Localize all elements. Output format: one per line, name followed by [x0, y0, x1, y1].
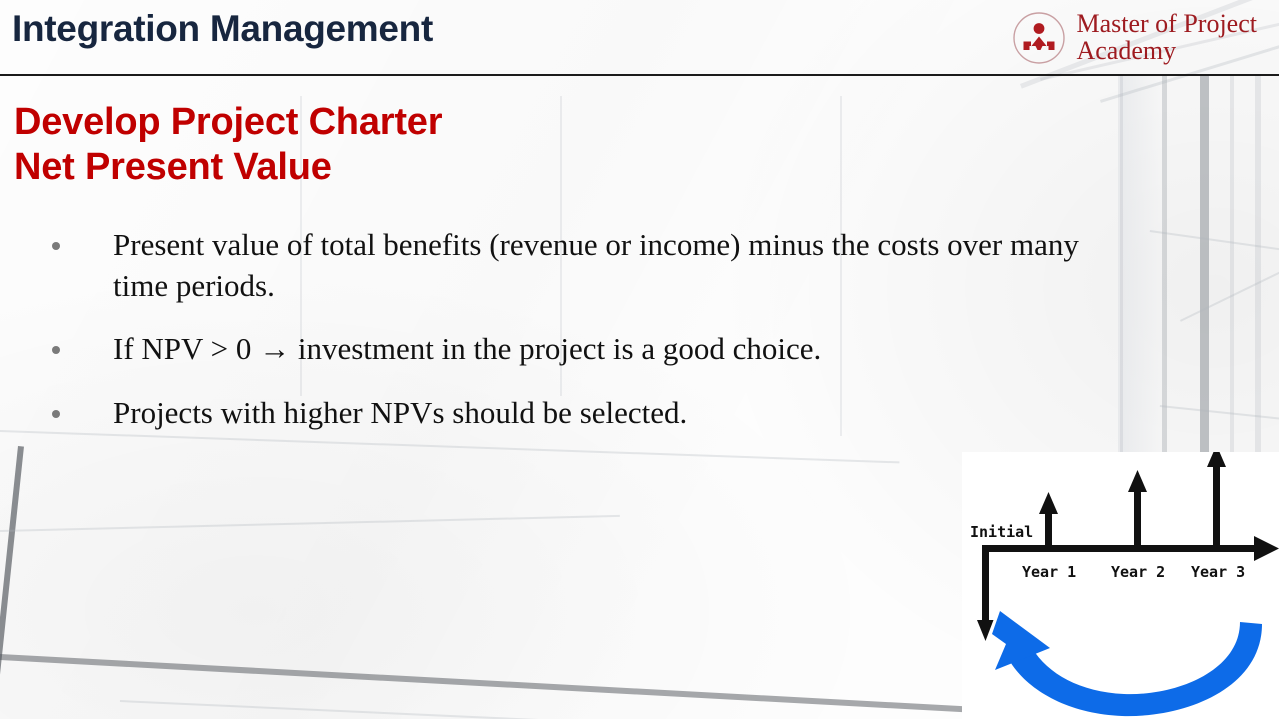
- diagram-label-initial: Initial: [970, 523, 1033, 541]
- list-item: If NPV > 0 → investment in the project i…: [52, 328, 1142, 369]
- brand-logo[interactable]: Master of Project Academy: [1011, 8, 1257, 68]
- slide-header: Integration Management Master of Project…: [0, 0, 1279, 76]
- diagram-label-year-3: Year 3: [1191, 563, 1245, 581]
- diagram-label-year-1: Year 1: [1022, 563, 1076, 581]
- diagram-label-year-2: Year 2: [1111, 563, 1165, 581]
- brand-logo-text: Master of Project Academy: [1076, 11, 1257, 64]
- diagram-axis: [977, 536, 1279, 641]
- diagram-inflow-arrows: [1039, 452, 1226, 548]
- bullet-dot-icon: [52, 346, 60, 354]
- brand-logo-line2: Academy: [1076, 38, 1257, 65]
- cash-flow-diagram: Initial Year 1 Year 2 Year 3: [962, 452, 1279, 719]
- page-title: Integration Management: [12, 8, 433, 50]
- brand-logo-line1: Master of Project: [1076, 11, 1257, 38]
- bullet-dot-icon: [52, 410, 60, 418]
- header-divider: [0, 74, 1279, 76]
- bullet-text: Present value of total benefits (revenue…: [113, 224, 1123, 306]
- bullet-text: If NPV > 0 → investment in the project i…: [113, 328, 821, 369]
- slide-canvas: Integration Management Master of Project…: [0, 0, 1279, 719]
- bullet-dot-icon: [52, 242, 60, 250]
- discount-back-arrow-icon: [992, 611, 1262, 716]
- bullet-list: Present value of total benefits (revenue…: [52, 224, 1142, 455]
- person-circle-icon: [1011, 10, 1067, 66]
- slide-title: Develop Project Charter Net Present Valu…: [14, 100, 442, 190]
- slide-title-line2: Net Present Value: [14, 145, 442, 190]
- list-item: Present value of total benefits (revenue…: [52, 224, 1142, 306]
- list-item: Projects with higher NPVs should be sele…: [52, 392, 1142, 433]
- bullet-text: Projects with higher NPVs should be sele…: [113, 392, 687, 433]
- slide-title-line1: Develop Project Charter: [14, 100, 442, 145]
